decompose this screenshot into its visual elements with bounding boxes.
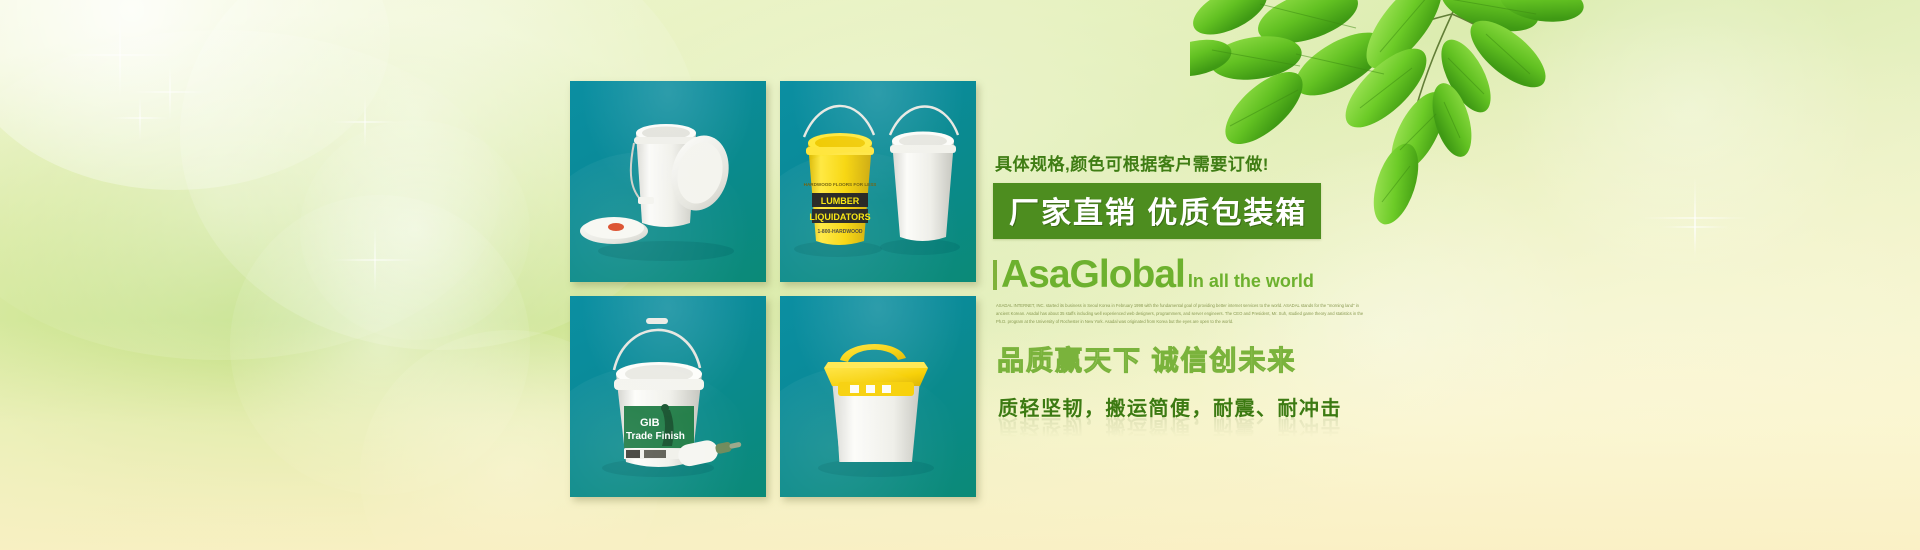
asaglobal-logo: AsaGlobal In all the world bbox=[993, 255, 1493, 294]
product-tile-gib-trade-finish-bucket[interactable]: GIB Trade Finish bbox=[570, 296, 766, 497]
logo-tagline: In all the world bbox=[1188, 271, 1314, 292]
product-image-grid: LUMBER LIQUIDATORS 1-800-HARDWOOD HARDWO… bbox=[570, 81, 976, 497]
tagline-text: 具体规格,颜色可根据客户需要订做! bbox=[995, 150, 1493, 175]
headline-banner: 厂家直销 优质包装箱 bbox=[993, 183, 1321, 239]
logo-name: AsaGlobal bbox=[1001, 255, 1185, 294]
feature-text-reflection: 质轻坚韧，搬运简便，耐震、耐冲击 bbox=[998, 414, 1342, 443]
feature-list: 质轻坚韧，搬运简便，耐震、耐冲击 质轻坚韧，搬运简便，耐震、耐冲击 bbox=[998, 392, 1493, 421]
headline-text: 厂家直销 优质包装箱 bbox=[1009, 197, 1307, 230]
company-blurb: ASADAL INTERNET, INC. started its busine… bbox=[996, 302, 1364, 327]
product-tile-white-box-yellow-lid[interactable] bbox=[780, 296, 976, 497]
motto-text: 品质赢天下 诚信创未来 bbox=[997, 339, 1493, 378]
product-tile-white-bucket-with-lids[interactable] bbox=[570, 81, 766, 282]
product-tile-yellow-and-white-buckets[interactable]: LUMBER LIQUIDATORS 1-800-HARDWOOD HARDWO… bbox=[780, 81, 976, 282]
marketing-copy: 具体规格,颜色可根据客户需要订做! 厂家直销 优质包装箱 AsaGlobal I… bbox=[993, 150, 1493, 421]
logo-bar-icon bbox=[993, 260, 997, 290]
promo-banner: LUMBER LIQUIDATORS 1-800-HARDWOOD HARDWO… bbox=[0, 0, 1920, 550]
